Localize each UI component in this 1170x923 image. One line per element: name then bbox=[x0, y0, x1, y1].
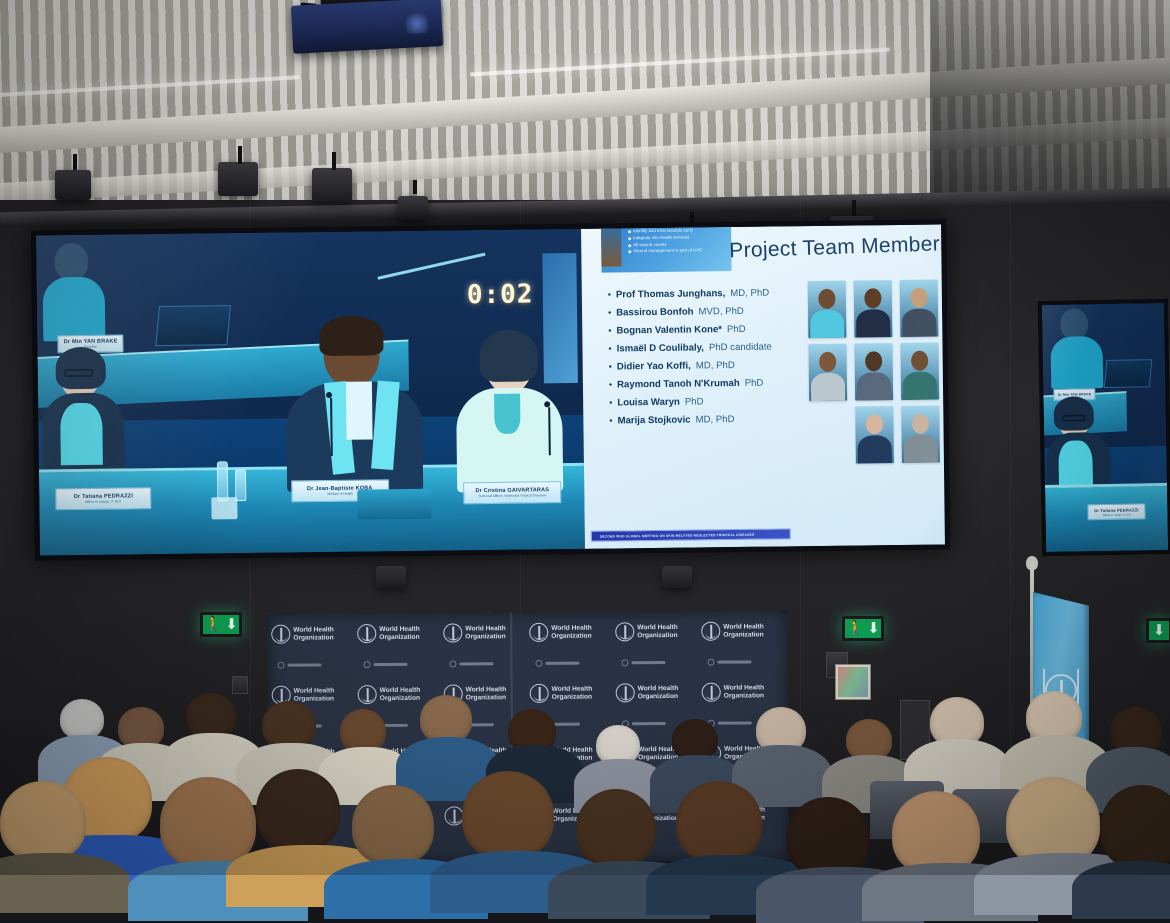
who-logo-line1: World Health bbox=[465, 625, 506, 633]
who-logo-small bbox=[697, 651, 783, 672]
who-logo-line2: Organization bbox=[293, 634, 334, 642]
team-member-list: • Prof Thomas Junghans, MD, PhD • Bassir… bbox=[608, 288, 810, 434]
panelist-head bbox=[54, 243, 88, 281]
laptop bbox=[1104, 359, 1152, 388]
ceiling-speaker bbox=[312, 168, 352, 202]
audience-head bbox=[60, 699, 104, 739]
audience-head-front bbox=[576, 789, 656, 867]
ceiling-speaker bbox=[218, 162, 258, 196]
bullet-dot: • bbox=[608, 309, 611, 319]
bullet-dot: • bbox=[608, 326, 611, 336]
who-logo-line2: Organization bbox=[637, 631, 678, 639]
list-item: • Bassirou Bonfoh MVD, PhD bbox=[608, 306, 808, 318]
ceiling-speaker bbox=[398, 196, 428, 220]
panelist-collar bbox=[494, 394, 520, 434]
who-logo: World HealthOrganization bbox=[611, 611, 697, 653]
ceiling bbox=[0, 0, 1170, 215]
member-degrees: MVD, PhD bbox=[698, 307, 743, 317]
down-arrow-icon: ⬇ bbox=[1153, 623, 1166, 638]
member-name: Raymond Tanoh N'Krumah bbox=[617, 379, 740, 390]
member-name: Prof Thomas Junghans, bbox=[616, 289, 725, 300]
who-emblem-icon bbox=[615, 622, 634, 641]
main-led-screen[interactable]: Dr Min YAN BRAKE Panellist Dr Tatiana PE… bbox=[31, 219, 950, 560]
member-photo bbox=[900, 343, 939, 400]
member-photo bbox=[854, 343, 893, 400]
water-bottle bbox=[235, 469, 246, 501]
nameplate: Dr Tatiana PEDRAZZI Officer in charge, I… bbox=[55, 487, 151, 510]
photo-row bbox=[808, 343, 939, 402]
who-logo-small bbox=[267, 654, 353, 675]
audience-head-front bbox=[0, 781, 86, 861]
who-logo-line2: Organization bbox=[551, 632, 592, 640]
who-logo-small bbox=[439, 653, 525, 674]
audience-head bbox=[262, 701, 316, 749]
member-degrees: PhD bbox=[727, 325, 746, 335]
ceiling-speaker bbox=[55, 170, 91, 200]
who-logo: World HealthOrganization bbox=[697, 610, 783, 652]
microphone-head bbox=[326, 392, 332, 398]
who-logo-line1: World Health bbox=[379, 625, 420, 633]
list-item: • Ismaël D Coulibaly, PhD candidate bbox=[608, 342, 808, 354]
member-photo bbox=[855, 406, 894, 463]
who-emblem-icon bbox=[529, 623, 548, 642]
member-name: Marija Stojkovic bbox=[617, 415, 690, 425]
down-arrow-icon: ⬇ bbox=[867, 621, 880, 636]
audience-head-front bbox=[1100, 785, 1170, 869]
audience bbox=[0, 685, 1170, 875]
who-logo-line1: World Health bbox=[551, 624, 592, 632]
panelist-body bbox=[43, 277, 106, 342]
who-logo-line1: World Health bbox=[637, 624, 678, 632]
member-name: Bognan Valentin Kone* bbox=[616, 325, 722, 336]
panelist-hair bbox=[479, 329, 538, 382]
ribbon-photo bbox=[601, 224, 622, 266]
running-person-icon: 🚶 bbox=[846, 621, 865, 636]
nameplate: Dr Tatiana PEDRAZZI Officer in charge, I… bbox=[1087, 503, 1145, 520]
list-item: • Marija Stojkovic MD, PhD bbox=[609, 414, 809, 426]
slide-footer-text: SECOND WHO GLOBAL MEETING ON SKIN-RELATE… bbox=[600, 532, 755, 538]
running-person-icon: 🚶 bbox=[204, 617, 223, 632]
list-item: • Didier Yao Koffi, MD, PhD bbox=[609, 360, 809, 372]
who-logo: World HealthOrganization bbox=[525, 611, 611, 653]
conference-hall-photo: Dr Min YAN BRAKE Panellist Dr Tatiana PE… bbox=[0, 0, 1170, 875]
member-degrees: PhD bbox=[745, 379, 764, 389]
microphone-head bbox=[544, 401, 550, 407]
member-degrees: PhD candidate bbox=[709, 343, 772, 353]
member-name: Didier Yao Koffi, bbox=[617, 361, 691, 371]
laptop bbox=[155, 305, 231, 346]
photo-row bbox=[809, 406, 940, 465]
audience-head-front bbox=[786, 797, 870, 877]
who-logo-line2: Organization bbox=[465, 633, 506, 641]
ceiling-projector bbox=[291, 0, 443, 54]
feed-flag bbox=[542, 253, 578, 383]
member-photo bbox=[808, 281, 847, 338]
who-emblem-icon bbox=[443, 623, 462, 642]
team-photo-grid bbox=[808, 280, 940, 471]
presentation-slide: Identify and treat wounds early Integrat… bbox=[581, 224, 950, 548]
wall-speaker bbox=[662, 566, 692, 588]
who-emblem-icon bbox=[271, 625, 290, 644]
bullet-dot: • bbox=[609, 362, 612, 372]
backdrop-row: World HealthOrganization World HealthOrg… bbox=[267, 610, 787, 655]
audience-head bbox=[420, 695, 472, 743]
glasses-icon bbox=[64, 369, 94, 377]
audience-head-front bbox=[352, 785, 434, 865]
member-degrees: MD, PhD bbox=[696, 415, 735, 425]
member-degrees: MD, PhD bbox=[730, 289, 769, 299]
slide-ribbon: Identify and treat wounds early Integrat… bbox=[601, 224, 732, 272]
bullet-dot: • bbox=[609, 398, 612, 408]
who-emblem-icon bbox=[701, 622, 720, 641]
who-logo-line2: Organization bbox=[379, 633, 420, 641]
ceiling-shadow bbox=[930, 0, 1170, 215]
member-photo bbox=[808, 344, 847, 401]
nameplate: Dr Cristina GAIVARTARAS Technical Office… bbox=[463, 481, 561, 504]
who-logo-small bbox=[525, 652, 611, 673]
countdown-timer: 0:02 bbox=[467, 279, 534, 310]
exit-sign: 🚶 ⬇ bbox=[200, 612, 242, 637]
side-monitor-feed: Dr Min YAN BRAKE Dr Tatiana PEDRAZZI Off… bbox=[1042, 303, 1168, 552]
member-photo bbox=[900, 280, 939, 337]
speaker-hair bbox=[319, 315, 383, 356]
projector-lens bbox=[405, 13, 428, 34]
member-photo bbox=[854, 280, 893, 337]
member-photo bbox=[901, 406, 940, 463]
who-logo: World HealthOrganization bbox=[439, 612, 525, 654]
member-degrees: PhD bbox=[685, 397, 704, 407]
list-item: • Raymond Tanoh N'Krumah PhD bbox=[609, 378, 809, 390]
bullet-dot: • bbox=[609, 380, 612, 390]
bullet-dot: • bbox=[608, 291, 611, 301]
photo-row bbox=[808, 280, 939, 339]
audience-head-front bbox=[256, 769, 340, 851]
who-logo-line2: Organization bbox=[723, 631, 764, 639]
list-item: • Prof Thomas Junghans, MD, PhD bbox=[608, 288, 808, 300]
panelist-blouse bbox=[60, 403, 103, 466]
who-logo-small bbox=[611, 652, 697, 673]
panelist-body bbox=[1050, 336, 1103, 389]
audience-shoulders-front bbox=[1072, 861, 1170, 919]
down-arrow-icon: ⬇ bbox=[225, 617, 238, 632]
slide-footer-banner: SECOND WHO GLOBAL MEETING ON SKIN-RELATE… bbox=[591, 528, 791, 541]
glass bbox=[211, 497, 237, 519]
side-monitor[interactable]: Dr Min YAN BRAKE Dr Tatiana PEDRAZZI Off… bbox=[1038, 299, 1170, 556]
member-degrees: MD, PhD bbox=[696, 361, 735, 371]
who-logo-small bbox=[353, 654, 439, 675]
who-logo: World HealthOrganization bbox=[353, 613, 439, 655]
bullet-dot: • bbox=[608, 344, 611, 354]
screen-content: Dr Min YAN BRAKE Panellist Dr Tatiana PE… bbox=[36, 224, 945, 555]
who-logo-line1: World Health bbox=[723, 623, 764, 631]
photo-placeholder bbox=[809, 407, 848, 464]
who-logo: World HealthOrganization bbox=[267, 613, 353, 655]
who-logo-line1: World Health bbox=[293, 626, 334, 634]
ribbon-line: Wound management is part of UHC bbox=[628, 248, 726, 256]
slide-title: Project Team Members bbox=[729, 232, 950, 263]
desk-monitor bbox=[357, 489, 431, 520]
bullet-dot: • bbox=[609, 416, 612, 426]
who-emblem-icon bbox=[357, 624, 376, 643]
wall-speaker bbox=[376, 566, 406, 588]
exit-sign: ⬇ bbox=[1146, 618, 1170, 643]
exit-sign: 🚶 ⬇ bbox=[842, 616, 884, 641]
member-name: Louisa Waryn bbox=[617, 398, 680, 408]
list-item: • Bognan Valentin Kone* PhD bbox=[608, 324, 808, 336]
speaker-shirt bbox=[346, 381, 373, 439]
audience-head-front bbox=[462, 771, 554, 859]
camera-feed-panel: Dr Min YAN BRAKE Panellist Dr Tatiana PE… bbox=[36, 229, 585, 556]
member-name: Ismaël D Coulibaly, bbox=[617, 343, 704, 354]
glasses-icon bbox=[1062, 414, 1086, 421]
water-bottle bbox=[217, 461, 228, 501]
member-name: Bassirou Bonfoh bbox=[616, 307, 693, 318]
audience-head-front bbox=[676, 781, 762, 863]
audience-shoulders-front bbox=[0, 853, 130, 913]
list-item: • Louisa Waryn PhD bbox=[609, 396, 809, 408]
